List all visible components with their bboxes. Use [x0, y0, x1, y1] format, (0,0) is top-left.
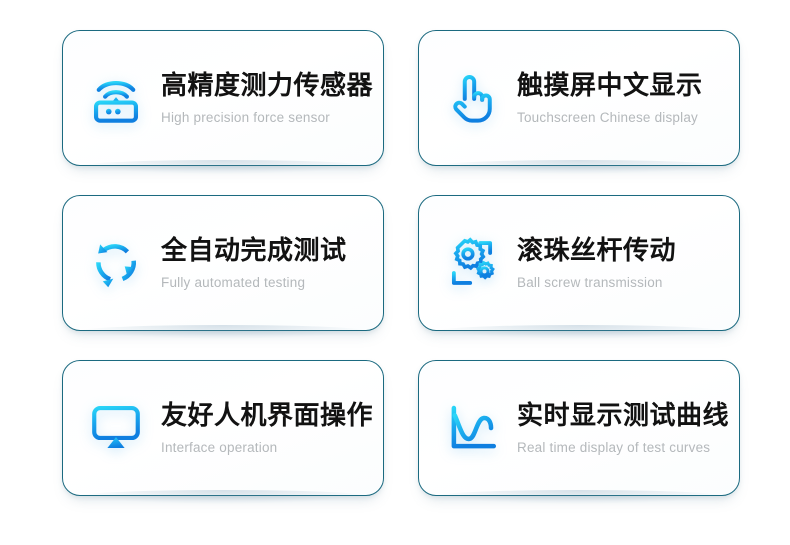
feature-card-force-sensor[interactable]: 高精度测力传感器 High precision force sensor [62, 30, 384, 166]
card-text: 滚珠丝杆传动 Ball screw transmission [517, 234, 676, 293]
card-text: 实时显示测试曲线 Real time display of test curve… [517, 399, 729, 458]
card-text: 触摸屏中文显示 Touchscreen Chinese display [517, 69, 703, 128]
feature-card-touchscreen[interactable]: 触摸屏中文显示 Touchscreen Chinese display [418, 30, 740, 166]
card-subtitle: High precision force sensor [161, 110, 373, 127]
circular-arrows-icon [85, 232, 147, 294]
card-title: 高精度测力传感器 [161, 71, 373, 102]
feature-card-test-curves[interactable]: 实时显示测试曲线 Real time display of test curve… [418, 360, 740, 496]
card-title: 滚珠丝杆传动 [517, 236, 676, 267]
card-text: 全自动完成测试 Fully automated testing [161, 234, 347, 293]
card-text: 友好人机界面操作 Interface operation [161, 399, 373, 458]
card-subtitle: Real time display of test curves [517, 440, 729, 457]
card-subtitle: Ball screw transmission [517, 275, 676, 292]
card-title: 实时显示测试曲线 [517, 401, 729, 432]
card-subtitle: Touchscreen Chinese display [517, 110, 703, 127]
card-title: 友好人机界面操作 [161, 401, 373, 432]
card-title: 全自动完成测试 [161, 236, 347, 267]
gears-icon [441, 232, 503, 294]
feature-card-automated-testing[interactable]: 全自动完成测试 Fully automated testing [62, 195, 384, 331]
curve-chart-icon [441, 397, 503, 459]
feature-card-ball-screw[interactable]: 滚珠丝杆传动 Ball screw transmission [418, 195, 740, 331]
feature-card-interface-operation[interactable]: 友好人机界面操作 Interface operation [62, 360, 384, 496]
card-text: 高精度测力传感器 High precision force sensor [161, 69, 373, 128]
card-subtitle: Interface operation [161, 440, 373, 457]
touch-hand-icon [441, 67, 503, 129]
card-subtitle: Fully automated testing [161, 275, 347, 292]
wifi-force-sensor-icon [85, 67, 147, 129]
card-title: 触摸屏中文显示 [517, 71, 703, 102]
monitor-bar-chart-icon [85, 397, 147, 459]
feature-grid: 高精度测力传感器 High precision force sensor 触摸屏… [0, 0, 790, 545]
